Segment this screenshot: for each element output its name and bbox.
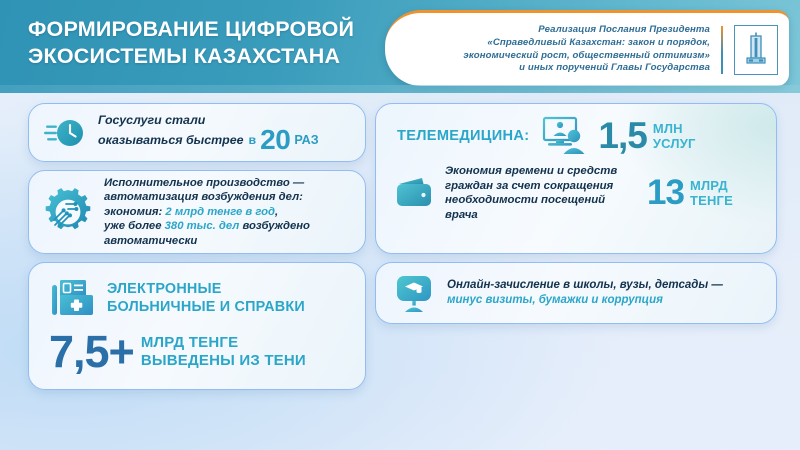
- sick-leave-number: 7,5+: [49, 330, 134, 374]
- page-title-line1: ФОРМИРОВАНИЕ ЦИФРОВОЙ: [28, 16, 378, 43]
- medical-card-icon: [51, 277, 95, 319]
- banner-text: Реализация Послания Президента «Справедл…: [385, 24, 721, 74]
- sick-leave-heading-line2: БОЛЬНИЧНЫЕ И СПРАВКИ: [107, 298, 305, 316]
- telemedicine-label: ТЕЛЕМЕДИЦИНА:: [397, 128, 529, 144]
- telemedicine-saving-row: Экономия времени и средств граждан за сч…: [376, 156, 776, 222]
- enforcement-line4-highlight: 380 тыс. дел: [165, 220, 240, 232]
- telemedicine-saving-line1: Экономия времени и средств: [445, 164, 641, 179]
- telemedicine-saving-line2: граждан за счет сокращения: [445, 179, 641, 194]
- telemedicine-saving-number: 13: [647, 176, 684, 210]
- sick-leave-label-line1: МЛРД ТЕНГЕ: [141, 334, 306, 353]
- online-education-icon: [394, 273, 434, 313]
- state-emblem-building-icon: [734, 25, 778, 75]
- sick-leave-heading-line1: ЭЛЕКТРОННЫЕ: [107, 280, 305, 298]
- banner-line1: Реализация Послания Президента: [385, 24, 710, 37]
- card-fast-services: Госуслуги стали оказываться быстрее в 20…: [28, 103, 366, 162]
- fast-services-line2-row: оказываться быстрее в 20 РАЗ: [98, 128, 319, 152]
- sick-leave-label-line2: ВЫВЕДЕНЫ ИЗ ТЕНИ: [141, 352, 306, 371]
- page-title: ФОРМИРОВАНИЕ ЦИФРОВОЙ ЭКОСИСТЕМЫ КАЗАХСТ…: [28, 16, 378, 70]
- telemedicine-unit-line2: УСЛУГ: [653, 136, 696, 152]
- card-sick-leave: ЭЛЕКТРОННЫЕ БОЛЬНИЧНЫЕ И СПРАВКИ 7,5+ МЛ…: [28, 262, 366, 390]
- card-enforcement: Исполнительное производство — автоматиза…: [28, 170, 366, 254]
- telemedicine-unit-line1: МЛН: [653, 121, 696, 137]
- telemedicine-top-row: ТЕЛЕМЕДИЦИНА: 1,5 МЛН УСЛУГ: [376, 104, 776, 156]
- enforcement-copy: Исполнительное производство — автоматиза…: [104, 176, 310, 249]
- telemedicine-saving-unit: МЛРД ТЕНГЕ: [690, 178, 733, 209]
- education-line2: минус визиты, бумажки и коррупция: [447, 293, 723, 309]
- speed-clock-icon: [44, 115, 86, 151]
- gear-circuit-icon: [42, 186, 94, 238]
- fast-services-copy: Госуслуги стали оказываться быстрее в 20…: [98, 113, 319, 153]
- enforcement-line4: уже более 380 тыс. дел возбуждено: [104, 219, 310, 234]
- telemedicine-saving-line4: врача: [445, 208, 641, 223]
- enforcement-line3: экономия: 2 млрд тенге в год,: [104, 205, 310, 220]
- telemedicine-saving-unit-line1: МЛРД: [690, 178, 733, 194]
- emblem-wrap: [723, 25, 789, 75]
- sick-leave-stat: 7,5+ МЛРД ТЕНГЕ ВЫВЕДЕНЫ ИЗ ТЕНИ: [29, 330, 365, 374]
- enforcement-line3-post: ,: [275, 206, 278, 218]
- telemedicine-unit: МЛН УСЛУГ: [653, 121, 696, 152]
- telemedicine-screen-icon: [539, 116, 591, 156]
- education-line1: Онлайн-зачисление в школы, вузы, детсады…: [447, 278, 723, 294]
- infographic-root: ФОРМИРОВАНИЕ ЦИФРОВОЙ ЭКОСИСТЕМЫ КАЗАХСТ…: [0, 0, 800, 450]
- enforcement-line5: автоматически: [104, 234, 310, 249]
- banner-line3: экономический рост, общественный оптимиз…: [385, 50, 710, 63]
- enforcement-line4-post: возбуждено: [239, 220, 310, 232]
- telemedicine-saving-unit-line2: ТЕНГЕ: [690, 193, 733, 209]
- sick-leave-heading: ЭЛЕКТРОННЫЕ БОЛЬНИЧНЫЕ И СПРАВКИ: [107, 280, 305, 316]
- fast-services-unit: РАЗ: [294, 133, 318, 149]
- fast-services-prefix: в: [249, 133, 257, 149]
- wallet-icon: [396, 177, 434, 209]
- education-copy: Онлайн-зачисление в школы, вузы, детсады…: [447, 278, 723, 309]
- telemedicine-number: 1,5: [598, 118, 646, 154]
- enforcement-line4-pre: уже более: [104, 220, 165, 232]
- sick-leave-head: ЭЛЕКТРОННЫЕ БОЛЬНИЧНЫЕ И СПРАВКИ: [29, 263, 365, 319]
- card-education: Онлайн-зачисление в школы, вузы, детсады…: [375, 262, 777, 324]
- header-band: ФОРМИРОВАНИЕ ЦИФРОВОЙ ЭКОСИСТЕМЫ КАЗАХСТ…: [0, 0, 800, 93]
- banner-line4: и иных поручений Главы Государства: [385, 62, 710, 75]
- telemedicine-saving-line3: необходимости посещений: [445, 193, 641, 208]
- banner-line2: «Справедливый Казахстан: закон и порядок…: [385, 37, 710, 50]
- card-telemedicine: ТЕЛЕМЕДИЦИНА: 1,5 МЛН УСЛУГ: [375, 103, 777, 254]
- enforcement-line2: автоматизация возбуждения дел:: [104, 190, 310, 205]
- president-address-banner: Реализация Послания Президента «Справедл…: [385, 10, 789, 86]
- page-title-line2: ЭКОСИСТЕМЫ КАЗАХСТАНА: [28, 43, 378, 70]
- enforcement-line3-highlight: 2 млрд тенге в год: [165, 206, 275, 218]
- sick-leave-label: МЛРД ТЕНГЕ ВЫВЕДЕНЫ ИЗ ТЕНИ: [141, 334, 306, 371]
- enforcement-line3-pre: экономия:: [104, 206, 165, 218]
- telemedicine-saving-copy: Экономия времени и средств граждан за сч…: [445, 164, 641, 222]
- fast-services-line2: оказываться быстрее: [98, 133, 244, 149]
- fast-services-number: 20: [260, 128, 290, 152]
- building-icon-svg: [741, 31, 771, 69]
- enforcement-line1: Исполнительное производство —: [104, 176, 310, 191]
